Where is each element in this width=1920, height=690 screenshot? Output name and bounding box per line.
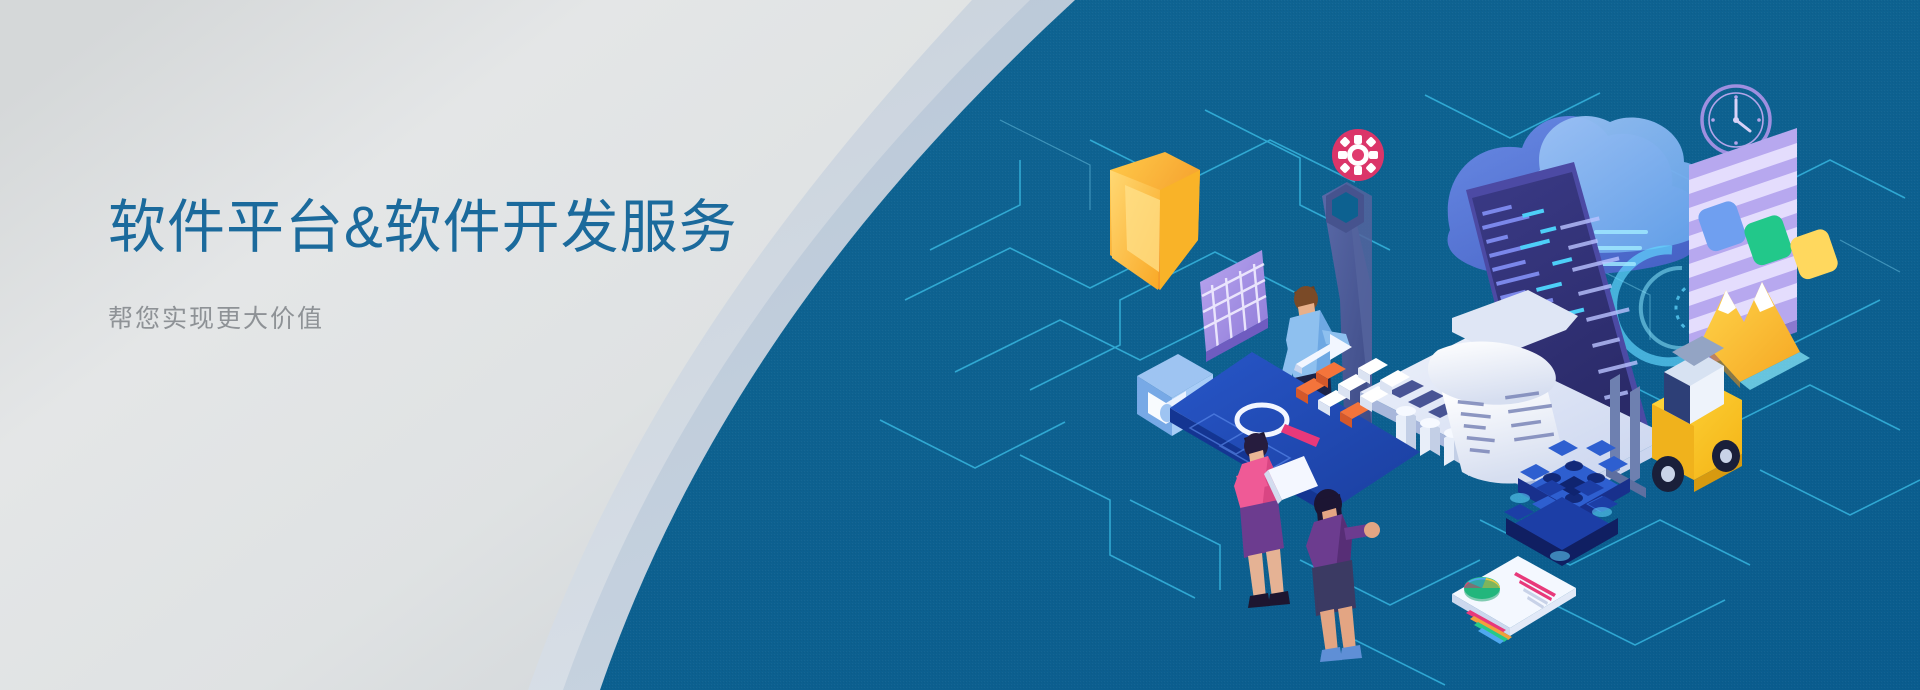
gray-curve-panel	[0, 0, 1920, 690]
hero-banner: 软件平台&软件开发服务 帮您实现更大价值	[0, 0, 1920, 690]
page-subtitle: 帮您实现更大价值	[108, 299, 888, 335]
banner-text-block: 软件平台&软件开发服务 帮您实现更大价值	[108, 196, 888, 335]
page-title: 软件平台&软件开发服务	[108, 196, 888, 261]
